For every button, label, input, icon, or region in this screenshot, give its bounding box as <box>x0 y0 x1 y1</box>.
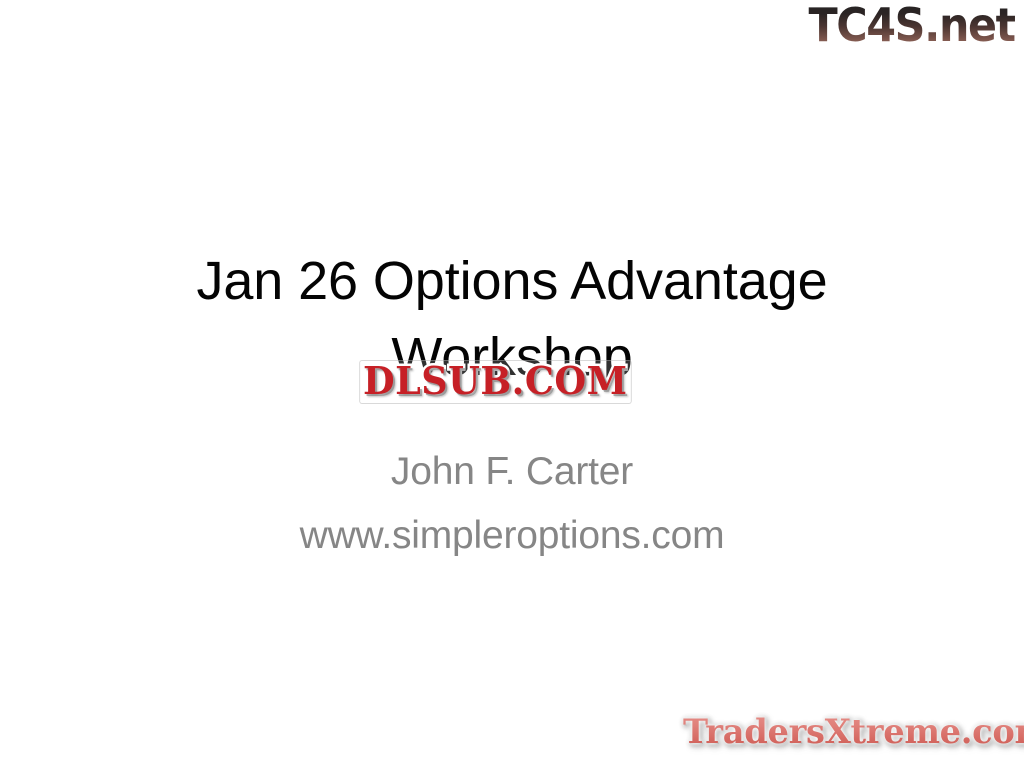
presentation-slide: TC4S.net Jan 26 Options Advantage Worksh… <box>0 0 1024 768</box>
tc4s-net-watermark: TC4S.net <box>809 0 1015 51</box>
subtitle-author: John F. Carter <box>0 440 1024 504</box>
dlsub-com-watermark: DLSUB.COM <box>363 358 627 404</box>
subtitle-website: www.simpleroptions.com <box>0 504 1024 568</box>
subtitle-block: John F. Carter www.simpleroptions.com <box>0 440 1024 568</box>
tradersxtreme-com-watermark: TradersXtreme.com <box>683 709 1024 755</box>
